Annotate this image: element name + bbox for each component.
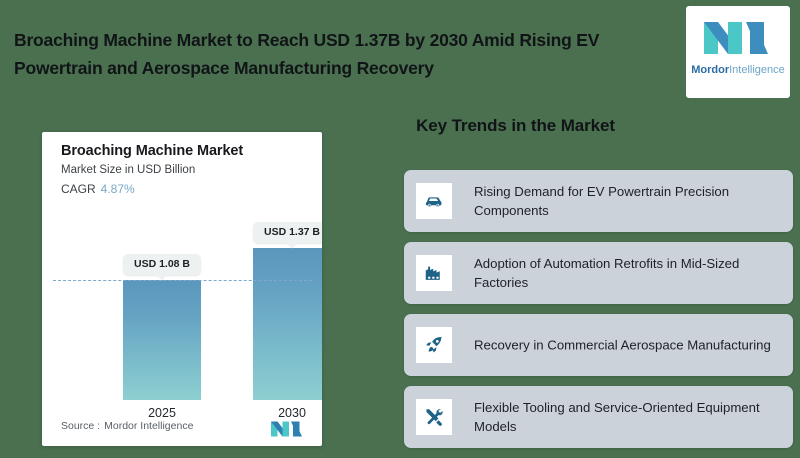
brand-logo: MordorIntelligence — [686, 6, 790, 98]
mi-monogram-icon — [270, 420, 306, 438]
bar-label-2030: USD 1.37 B — [253, 222, 322, 243]
x-axis-tick-2025: 2025 — [122, 406, 202, 420]
chart-source: Source :Mordor Intelligence — [61, 420, 193, 432]
car-icon — [416, 183, 452, 219]
trend-card[interactable]: Recovery in Commercial Aerospace Manufac… — [404, 314, 793, 376]
trend-card[interactable]: Rising Demand for EV Powertrain Precisio… — [404, 170, 793, 232]
trend-text: Adoption of Automation Retrofits in Mid-… — [474, 254, 782, 292]
factory-icon — [416, 255, 452, 291]
trends-list: Rising Demand for EV Powertrain Precisio… — [404, 170, 793, 458]
source-value: Mordor Intelligence — [104, 420, 193, 432]
market-size-chart-card: Broaching Machine Market Market Size in … — [42, 132, 322, 446]
x-axis-tick-2030: 2030 — [252, 406, 322, 420]
reference-line — [53, 280, 312, 281]
bar-2030 — [253, 248, 322, 400]
bar-chart-plot: USD 1.08 B2025USD 1.37 B2030 — [42, 132, 322, 446]
trend-card[interactable]: Flexible Tooling and Service-Oriented Eq… — [404, 386, 793, 448]
header: Broaching Machine Market to Reach USD 1.… — [0, 0, 800, 108]
page-title: Broaching Machine Market to Reach USD 1.… — [14, 26, 664, 82]
trend-text: Recovery in Commercial Aerospace Manufac… — [474, 336, 782, 355]
brand-logo-text: MordorIntelligence — [686, 64, 790, 76]
trend-text: Flexible Tooling and Service-Oriented Eq… — [474, 398, 782, 436]
rocket-icon — [416, 327, 452, 363]
trends-heading: Key Trends in the Market — [368, 116, 663, 136]
mi-monogram-icon — [702, 16, 774, 60]
source-label: Source : — [61, 420, 100, 432]
bar-2025 — [123, 280, 201, 400]
bar-label-2025: USD 1.08 B — [123, 254, 201, 275]
trend-card[interactable]: Adoption of Automation Retrofits in Mid-… — [404, 242, 793, 304]
brand-name-bold: Mordor — [691, 64, 729, 76]
tools-icon — [416, 399, 452, 435]
brand-name-light: Intelligence — [729, 64, 785, 76]
trend-text: Rising Demand for EV Powertrain Precisio… — [474, 182, 782, 220]
